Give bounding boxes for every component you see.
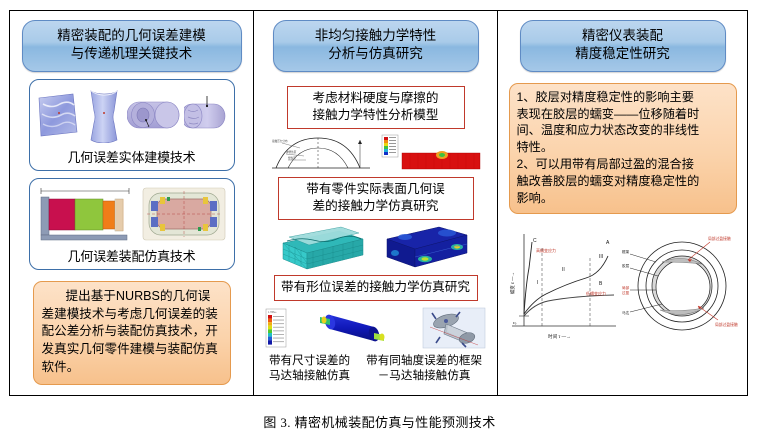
- svg-text:塑性区: 塑性区: [288, 156, 296, 160]
- motor-shaft-model-icon: [312, 307, 396, 349]
- panel-solid-modeling-caption: 几何误差实体建模技术: [33, 146, 231, 169]
- caption-dimension-error-line-2: 马达轴接触仿真: [269, 368, 350, 383]
- cad-section-assembly-icon: [141, 185, 227, 243]
- svg-text:B: B: [599, 281, 603, 287]
- svg-text:II: II: [562, 267, 565, 273]
- caption-coaxiality-error-line-2: －马达轴接触仿真: [366, 368, 482, 383]
- label-contact-model-line-1: 考虑材料硬度与摩擦的: [292, 90, 460, 107]
- fea-legend-icon: 1.788e+: [265, 308, 287, 348]
- column-1-header-line-2: 与传递机理关键技术: [27, 45, 237, 63]
- panel-assembly-simulation: 几何误差装配仿真技术: [29, 178, 235, 270]
- cad-block-assembly-icon: [37, 185, 133, 243]
- svg-text:1.788e+: 1.788e+: [268, 311, 277, 314]
- callout-line-3: 间、温度和应力状态改变的非线性: [517, 122, 729, 139]
- panel-assembly-simulation-caption: 几何误差装配仿真技术: [33, 245, 231, 268]
- ring-solid-icon: [127, 90, 183, 140]
- caption-coaxiality-error-line-1: 带有同轴度误差的框架: [366, 353, 482, 368]
- label-real-surface: 带有零件实际表面几何误 差的接触力学仿真研究: [278, 177, 474, 220]
- column-1-callout: 提出基于NURBS的几何误差建模技术与考虑几何误差的装配公差分析与装配仿真技术，…: [33, 281, 231, 385]
- surface-fea-art-row: [254, 225, 497, 271]
- column-1-header-line-1: 精密装配的几何误差建模: [27, 27, 237, 45]
- mesh-block-icon: [279, 225, 367, 271]
- svg-text:局部: 局部: [622, 285, 630, 290]
- motor-shaft-captions-row: 带有尺寸误差的 马达轴接触仿真 带有同轴度误差的框架 －马达轴接触仿真: [254, 353, 497, 383]
- label-real-surface-line-1: 带有零件实际表面几何误: [283, 181, 469, 198]
- column-3-header-line-1: 精密仪表装配: [525, 27, 721, 45]
- hourglass-solid-icon: [82, 87, 126, 143]
- svg-text:过盈: 过盈: [622, 290, 630, 295]
- frame-motor-assembly-icon: [422, 307, 486, 349]
- ring-contact-diagram: 框架 胶层 马达 局部 过盈 局部过盈接触 局部过盈接触: [622, 228, 744, 344]
- svg-text:ε₀: ε₀: [513, 320, 517, 325]
- caption-coaxiality-error: 带有同轴度误差的框架 －马达轴接触仿真: [366, 353, 482, 383]
- caption-dimension-error-line-1: 带有尺寸误差的: [269, 353, 350, 368]
- svg-text:A: A: [606, 240, 610, 246]
- figure-caption: 图 3. 精密机械装配仿真与性能预测技术: [0, 412, 759, 431]
- svg-text:蠕变 ε —→: 蠕变 ε —→: [509, 272, 516, 294]
- assembly-views-art: [33, 183, 231, 245]
- svg-text:马达: 马达: [622, 310, 630, 315]
- svg-text:高蠕变应力: 高蠕变应力: [536, 247, 556, 253]
- label-real-surface-line-2: 差的接触力学仿真研究: [283, 198, 469, 215]
- column-contact-mechanics: 非均匀接触力学特性 分析与仿真研究 考虑材料硬度与摩擦的 接触力学特性分析模型: [254, 11, 498, 395]
- cylinder-solid-icon: [184, 90, 230, 140]
- svg-text:C: C: [533, 238, 537, 244]
- stability-charts-row: C 高蠕变应力 A III II I B 低蠕变应力 ε₀ 蠕变 ε —→ 时间…: [498, 228, 747, 344]
- svg-text:局部过盈接触: 局部过盈接触: [708, 236, 731, 241]
- column-1-header: 精密装配的几何误差建模 与传递机理关键技术: [22, 20, 242, 72]
- column-2-header-line-2: 分析与仿真研究: [278, 45, 474, 63]
- label-contact-model: 考虑材料硬度与摩擦的 接触力学特性分析模型: [287, 86, 465, 129]
- column-2-header-line-1: 非均匀接触力学特性: [278, 27, 474, 45]
- solid-models-art: [33, 84, 231, 146]
- svg-text:弹塑性区: 弹塑性区: [286, 150, 297, 154]
- svg-text:低蠕变应力: 低蠕变应力: [586, 290, 606, 296]
- column-2-header: 非均匀接触力学特性 分析与仿真研究: [273, 20, 479, 72]
- contact-model-art-row: 接触压力分布 弹塑性区 塑性区: [254, 133, 497, 173]
- svg-text:III: III: [599, 254, 603, 260]
- fea-contact-stress-icon: [380, 133, 482, 173]
- panel-solid-modeling: 几何误差实体建模技术: [29, 79, 235, 171]
- label-form-error: 带有形位误差的接触力学仿真研究: [274, 275, 478, 301]
- motor-shaft-art-row: 1.788e+: [254, 307, 497, 349]
- column-3-header: 精密仪表装配 精度稳定性研究: [520, 20, 726, 72]
- callout-line-2: 表现在胶层的蠕变——位移随着时: [517, 106, 729, 123]
- figure-frame: 精密装配的几何误差建模 与传递机理关键技术: [9, 10, 748, 396]
- callout-line-5: 2、可以用带有局部过盈的混合接: [517, 156, 729, 173]
- callout-line-7: 影响。: [517, 190, 729, 207]
- svg-text:I: I: [537, 280, 538, 286]
- fea-contour-block-icon: [381, 225, 473, 271]
- creep-curve-chart: C 高蠕变应力 A III II I B 低蠕变应力 ε₀ 蠕变 ε —→ 时间…: [502, 228, 620, 344]
- callout-line-4: 特性。: [517, 139, 729, 156]
- caption-dimension-error: 带有尺寸误差的 马达轴接触仿真: [269, 353, 350, 383]
- column-3-callout: 1、胶层对精度稳定性的影响主要 表现在胶层的蠕变——位移随着时 间、温度和应力状…: [509, 83, 737, 214]
- surface-patch-icon: [33, 88, 81, 142]
- column-3-header-line-2: 精度稳定性研究: [525, 45, 721, 63]
- callout-line-1: 1、胶层对精度稳定性的影响主要: [517, 89, 729, 106]
- callout-line-6: 触改善胶层的蠕变对精度稳定性的: [517, 173, 729, 190]
- svg-text:局部过盈接触: 局部过盈接触: [715, 322, 738, 327]
- column-geometric-error: 精密装配的几何误差建模 与传递机理关键技术: [10, 11, 254, 395]
- svg-text:接触压力分布: 接触压力分布: [272, 139, 288, 143]
- contact-schematic-icon: 接触压力分布 弹塑性区 塑性区: [270, 134, 374, 172]
- label-contact-model-line-2: 接触力学特性分析模型: [292, 107, 460, 124]
- svg-text:框架: 框架: [622, 249, 630, 254]
- svg-text:时间 τ —→: 时间 τ —→: [548, 333, 571, 340]
- svg-text:胶层: 胶层: [622, 263, 630, 268]
- column-precision-stability: 精密仪表装配 精度稳定性研究 1、胶层对精度稳定性的影响主要 表现在胶层的蠕变—…: [498, 11, 747, 395]
